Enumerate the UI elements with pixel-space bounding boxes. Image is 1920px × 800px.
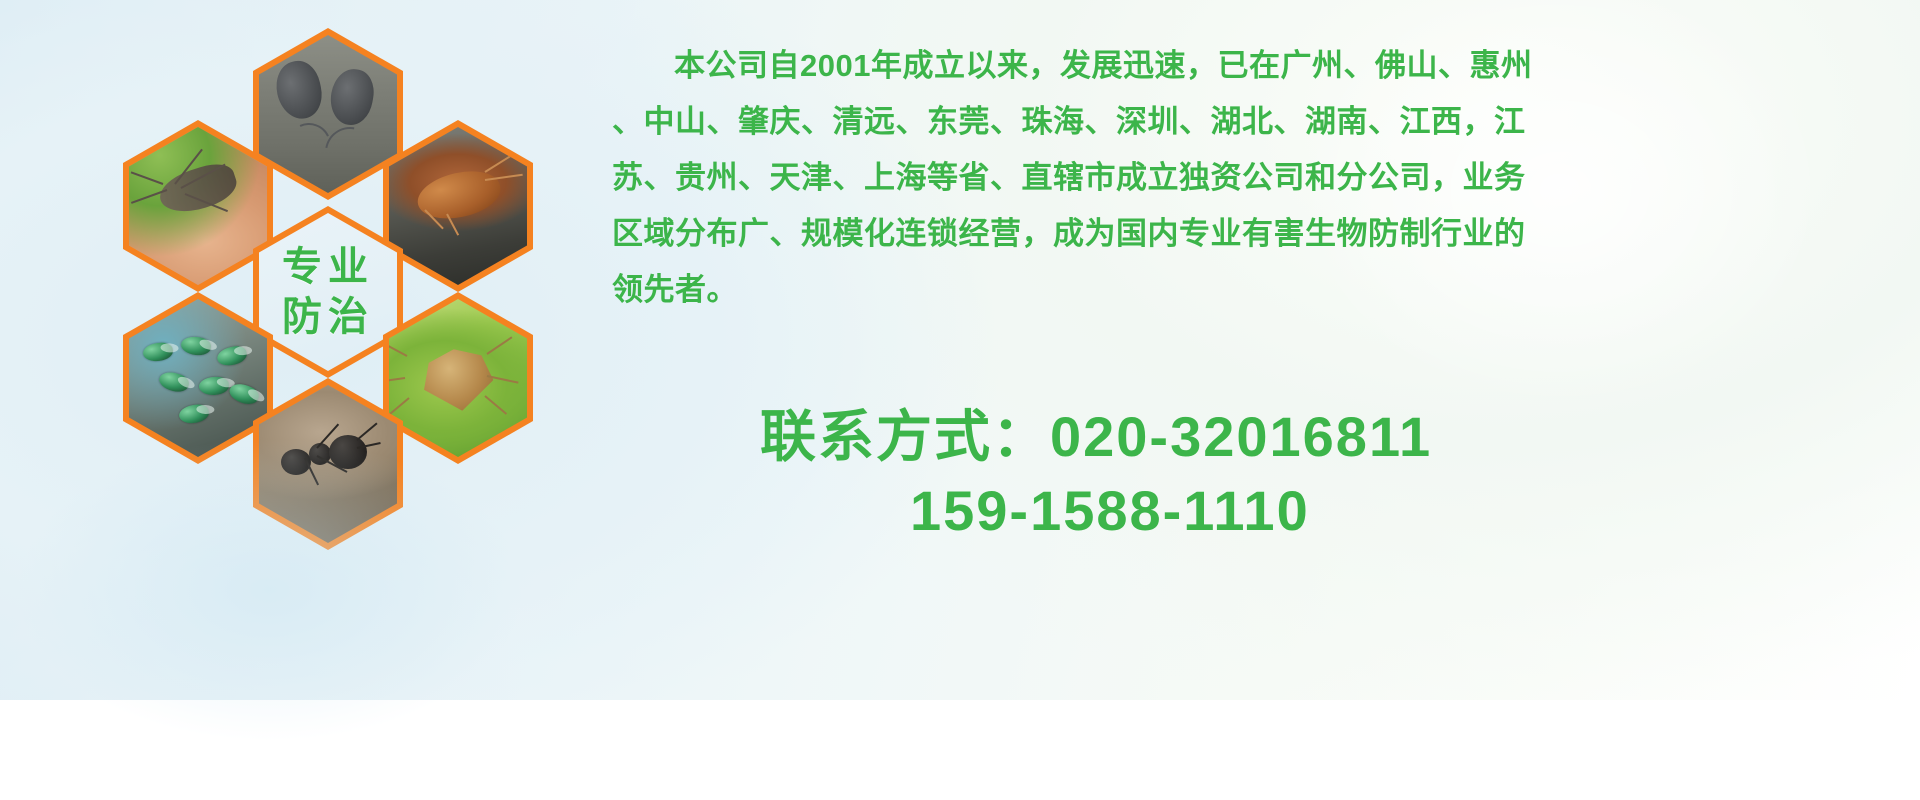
hex-inner-flies: [129, 299, 267, 457]
hex-cell-cockroach: [383, 120, 533, 292]
hex-inner-stinkbug: [389, 299, 527, 457]
rats-photo: [259, 35, 397, 193]
company-intro-paragraph: 本公司自2001年成立以来，发展迅速，已在广州、佛山、惠州 、中山、肇庆、清远、…: [612, 38, 1912, 318]
contact-phone-landline[interactable]: 联系方式：020-32016811: [760, 400, 1860, 474]
brand-slogan-line1: 专业: [282, 242, 374, 292]
contact-phone-mobile[interactable]: 159-1588-1110: [760, 474, 1860, 548]
hex-cell-brand-text: 专业 防治: [253, 206, 403, 378]
hex-cell-ant: [253, 378, 403, 550]
hex-inner-cockroach: [389, 127, 527, 285]
hex-inner-brand-text: 专业 防治: [259, 213, 397, 371]
flies-photo: [129, 299, 267, 457]
honeycomb-image-cluster: 专业 防治: [85, 10, 585, 550]
intro-line-4: 区域分布广、规模化连锁经营，成为国内专业有害生物防制行业的: [612, 206, 1912, 262]
intro-line-2: 、中山、肇庆、清远、东莞、珠海、深圳、湖北、湖南、江西，江: [612, 94, 1912, 150]
intro-line-5: 领先者。: [612, 262, 1912, 318]
stinkbug-photo: [389, 299, 527, 457]
promo-banner: 专业 防治: [0, 0, 1920, 700]
mosquito-photo: [129, 127, 267, 285]
hex-cell-stinkbug: [383, 292, 533, 464]
ant-photo: [259, 385, 397, 543]
intro-line-3: 苏、贵州、天津、上海等省、直辖市成立独资公司和分公司，业务: [612, 150, 1912, 206]
contact-block: 联系方式：020-32016811 159-1588-1110: [760, 400, 1860, 548]
hex-inner-mosquito: [129, 127, 267, 285]
hex-cell-flies: [123, 292, 273, 464]
cockroach-photo: [389, 127, 527, 285]
hex-cell-rats: [253, 28, 403, 200]
hex-inner-ant: [259, 385, 397, 543]
hex-inner-rats: [259, 35, 397, 193]
hex-cell-mosquito: [123, 120, 273, 292]
brand-slogan: 专业 防治: [282, 242, 374, 342]
brand-slogan-line2: 防治: [282, 292, 374, 342]
intro-line-1: 本公司自2001年成立以来，发展迅速，已在广州、佛山、惠州: [612, 38, 1912, 94]
